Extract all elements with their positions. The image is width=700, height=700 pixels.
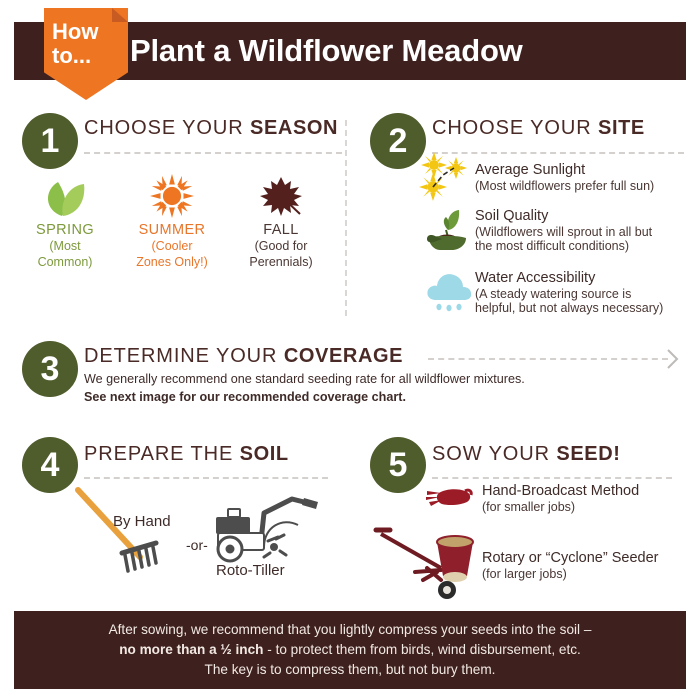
step-2-number-badge: 2 bbox=[370, 113, 426, 169]
step-1-number-badge: 1 bbox=[22, 113, 78, 169]
label-roto-tiller: Roto-Tiller bbox=[216, 562, 285, 579]
season-fall: FALL (Good for Perennials) bbox=[233, 176, 329, 270]
site-water-title: Water Accessibility bbox=[475, 270, 595, 286]
footer-line-2-rest: - to protect them from birds, wind disbu… bbox=[263, 642, 580, 657]
step-3-body-line1: We generally recommend one standard seed… bbox=[84, 372, 525, 386]
site-water-sub1: (A steady watering source is bbox=[475, 287, 631, 302]
season-fall-sub2: Perennials) bbox=[233, 255, 329, 270]
season-spring: SPRING (Most Common) bbox=[17, 176, 113, 270]
glove-icon bbox=[425, 485, 473, 511]
step-2-divider bbox=[432, 152, 684, 154]
season-summer-sub2: Zones Only!) bbox=[124, 255, 220, 270]
step-3-number: 3 bbox=[41, 352, 60, 386]
step-5-heading-light: SOW YOUR bbox=[432, 443, 556, 465]
step-1-divider bbox=[84, 152, 342, 154]
sunburst-icon-svg bbox=[420, 159, 468, 199]
footer-line-1: After sowing, we recommend that you ligh… bbox=[109, 620, 592, 640]
step-1-number: 1 bbox=[41, 124, 60, 158]
maple-leaf-icon bbox=[233, 176, 329, 218]
sow-hand-broadcast-sub: (for smaller jobs) bbox=[482, 500, 575, 514]
site-soil-sub1: (Wildflowers will sprout in all but bbox=[475, 225, 652, 240]
step-2-heading: CHOOSE YOUR SITE bbox=[432, 117, 645, 140]
sun-icon bbox=[124, 176, 220, 218]
step-4-heading-light: PREPARE THE bbox=[84, 443, 240, 465]
site-sunlight-sub1: (Most wildflowers prefer full sun) bbox=[475, 179, 654, 194]
maple-leaf-icon-svg bbox=[259, 176, 303, 218]
footer-note: After sowing, we recommend that you ligh… bbox=[14, 611, 686, 689]
hand-sprout-icon-svg bbox=[426, 208, 472, 252]
step-4-heading-bold: SOIL bbox=[240, 443, 289, 465]
page-title: Plant a Wildflower Meadow bbox=[130, 27, 675, 75]
site-soil-sub2: the most difficult conditions) bbox=[475, 239, 629, 254]
how-to-line1: How bbox=[52, 20, 128, 44]
step-5-heading-bold: SEED! bbox=[556, 443, 620, 465]
step-5-heading: SOW YOUR SEED! bbox=[432, 443, 621, 466]
sun-icon-svg bbox=[149, 174, 195, 218]
step-2-heading-light: CHOOSE YOUR bbox=[432, 117, 598, 139]
label-by-hand: By Hand bbox=[113, 513, 171, 530]
step-1-heading: CHOOSE YOUR SEASON bbox=[84, 117, 338, 140]
chevron-right-icon bbox=[666, 348, 680, 370]
rain-cloud-icon bbox=[426, 270, 474, 312]
footer-line-3: The key is to compress them, but not bur… bbox=[205, 660, 496, 680]
how-to-flag-text: How to... bbox=[44, 20, 128, 68]
leaves-icon-svg bbox=[42, 178, 88, 218]
step-5-number-badge: 5 bbox=[370, 437, 426, 493]
sow-rotary-seeder-sub: (for larger jobs) bbox=[482, 567, 567, 581]
step-4-heading: PREPARE THE SOIL bbox=[84, 443, 289, 466]
season-fall-sub1: (Good for bbox=[233, 239, 329, 254]
footer-line-2-bold: no more than a ½ inch bbox=[119, 642, 263, 657]
step-5-number: 5 bbox=[389, 448, 408, 482]
step-2-number: 2 bbox=[389, 124, 408, 158]
step-3-body-line2: See next image for our recommended cover… bbox=[84, 390, 406, 404]
season-summer: SUMMER (Cooler Zones Only!) bbox=[124, 176, 220, 270]
season-spring-sub1: (Most bbox=[17, 239, 113, 254]
leaves-icon bbox=[17, 176, 113, 218]
step-3-number-badge: 3 bbox=[22, 341, 78, 397]
hand-sprout-icon bbox=[426, 208, 472, 252]
site-soil-title: Soil Quality bbox=[475, 208, 548, 224]
step-3-heading: DETERMINE YOUR COVERAGE bbox=[84, 345, 403, 368]
how-to-line2: to... bbox=[52, 44, 128, 68]
sow-hand-broadcast-title: Hand-Broadcast Method bbox=[482, 483, 639, 499]
rake-icon bbox=[70, 485, 180, 585]
column-divider bbox=[345, 120, 347, 316]
step-1-heading-light: CHOOSE YOUR bbox=[84, 117, 250, 139]
step-1-heading-bold: SEASON bbox=[250, 117, 338, 139]
step-3-heading-bold: COVERAGE bbox=[284, 345, 403, 367]
season-summer-sub1: (Cooler bbox=[124, 239, 220, 254]
rain-cloud-icon-svg bbox=[426, 270, 474, 312]
seeder-icon bbox=[375, 528, 495, 600]
site-water-sub2: helpful, but not always necessary) bbox=[475, 301, 663, 316]
season-summer-name: SUMMER bbox=[124, 222, 220, 238]
sunburst-icon bbox=[420, 159, 468, 199]
footer-line-2: no more than a ½ inch - to protect them … bbox=[119, 640, 581, 660]
label-or: -or- bbox=[186, 537, 208, 553]
season-fall-name: FALL bbox=[233, 222, 329, 238]
step-5-divider bbox=[432, 477, 672, 479]
season-spring-sub2: Common) bbox=[17, 255, 113, 270]
step-3-heading-light: DETERMINE YOUR bbox=[84, 345, 284, 367]
step-4-divider bbox=[84, 477, 328, 479]
infographic-page: Plant a Wildflower Meadow How to... 1 CH… bbox=[0, 0, 700, 700]
sow-rotary-seeder-title: Rotary or “Cyclone” Seeder bbox=[482, 550, 659, 566]
step-2-heading-bold: SITE bbox=[598, 117, 645, 139]
step-4-number: 4 bbox=[41, 448, 60, 482]
step-3-dashed-arrow-line bbox=[428, 358, 668, 360]
site-sunlight-title: Average Sunlight bbox=[475, 162, 585, 178]
season-spring-name: SPRING bbox=[17, 222, 113, 238]
